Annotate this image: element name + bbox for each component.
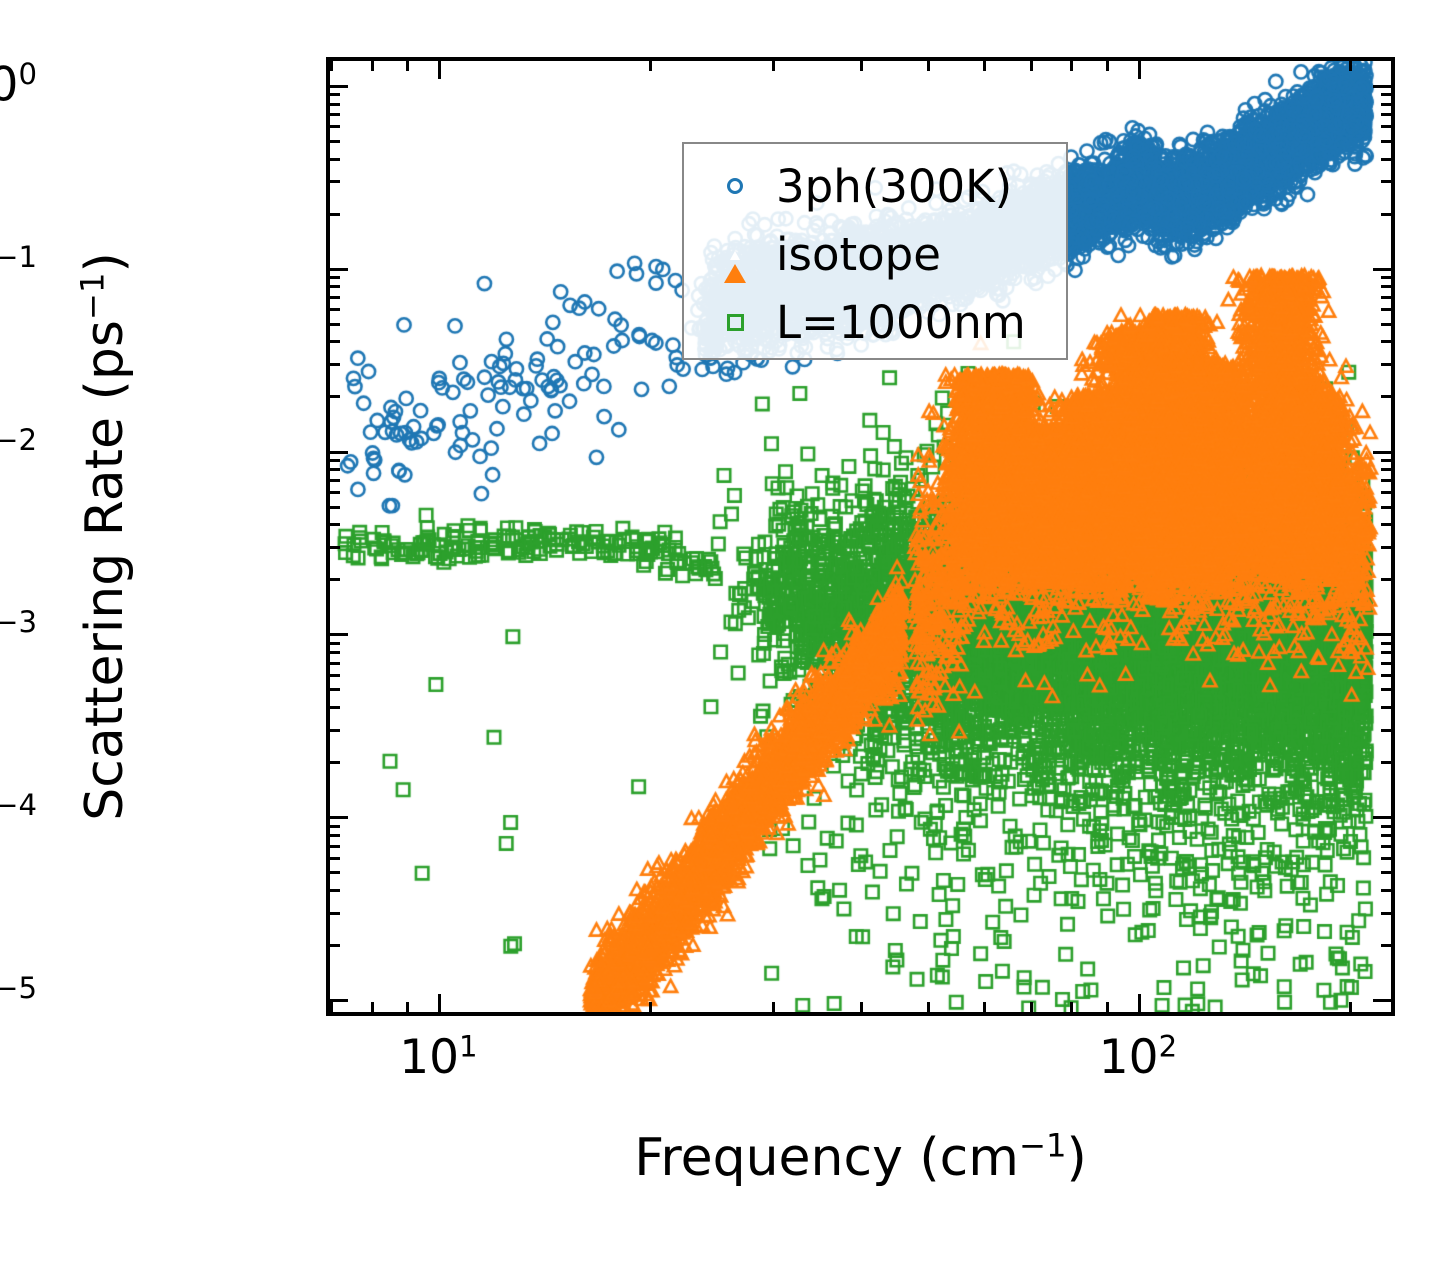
y-minor-tick-right — [1381, 506, 1391, 509]
y-minor-tick — [330, 93, 340, 96]
y-minor-tick-right — [1381, 468, 1391, 471]
y-minor-tick-right — [1381, 125, 1391, 128]
y-tick-label: 10−1 — [0, 240, 37, 295]
y-minor-tick-right — [1381, 642, 1391, 645]
y-minor-tick — [330, 308, 340, 311]
y-minor-tick-right — [1381, 213, 1391, 216]
x-minor-tick-top — [1106, 61, 1109, 71]
y-minor-tick-right — [1381, 578, 1391, 581]
y-major-tick-right — [1373, 451, 1391, 454]
x-minor-tick — [927, 1002, 930, 1012]
y-tick-label: 100 — [0, 57, 37, 112]
legend-item-length: L=1000nm — [684, 288, 1066, 356]
y-minor-tick — [330, 125, 340, 128]
x-major-tick — [1138, 994, 1141, 1012]
y-tick-label: 10−2 — [0, 423, 37, 478]
square-marker-icon — [712, 314, 758, 331]
x-minor-tick-top — [406, 61, 409, 71]
y-minor-tick — [330, 546, 340, 549]
y-minor-tick — [330, 180, 340, 183]
legend-item-3ph: 3ph(300K) — [684, 152, 1066, 220]
y-minor-tick-right — [1381, 395, 1391, 398]
x-major-tick-top — [1138, 61, 1141, 79]
y-minor-tick — [330, 845, 340, 848]
x-major-tick — [438, 994, 441, 1012]
x-minor-tick-top — [1070, 61, 1073, 71]
x-minor-tick-top — [330, 61, 333, 71]
y-minor-tick-right — [1381, 308, 1391, 311]
y-minor-tick — [330, 506, 340, 509]
y-major-tick — [330, 85, 348, 88]
y-major-tick-right — [1373, 633, 1391, 636]
y-minor-tick-right — [1381, 825, 1391, 828]
x-minor-tick-top — [1030, 61, 1033, 71]
y-minor-tick — [330, 213, 340, 216]
x-minor-tick-top — [649, 61, 652, 71]
y-minor-tick — [330, 834, 340, 837]
x-minor-tick — [406, 1002, 409, 1012]
y-major-tick — [330, 999, 348, 1002]
x-minor-tick — [1070, 1002, 1073, 1012]
x-tick-label: 101 — [399, 1030, 477, 1085]
y-minor-tick — [330, 825, 340, 828]
y-minor-tick — [330, 857, 340, 860]
y-minor-tick — [330, 479, 340, 482]
y-minor-tick — [330, 140, 340, 143]
y-minor-tick — [330, 296, 340, 299]
y-minor-tick-right — [1381, 834, 1391, 837]
y-minor-tick — [330, 674, 340, 677]
y-minor-tick-right — [1381, 857, 1391, 860]
x-minor-tick — [330, 1002, 333, 1012]
y-minor-tick-right — [1381, 871, 1391, 874]
y-minor-tick — [330, 323, 340, 326]
y-minor-tick-right — [1381, 845, 1391, 848]
x-minor-tick-top — [927, 61, 930, 71]
y-minor-tick-right — [1381, 729, 1391, 732]
y-major-tick — [330, 268, 348, 271]
y-minor-tick-right — [1381, 340, 1391, 343]
y-minor-tick — [330, 340, 340, 343]
y-tick-label: 10−5 — [0, 972, 37, 1027]
y-minor-tick-right — [1381, 944, 1391, 947]
y-minor-tick-right — [1381, 459, 1391, 462]
y-minor-tick-right — [1381, 180, 1391, 183]
y-minor-tick — [330, 651, 340, 654]
y-minor-tick — [330, 706, 340, 709]
y-minor-tick-right — [1381, 889, 1391, 892]
y-major-tick-right — [1373, 999, 1391, 1002]
y-minor-tick — [330, 363, 340, 366]
y-minor-tick — [330, 113, 340, 116]
x-minor-tick-top — [1349, 61, 1352, 71]
y-minor-tick — [330, 761, 340, 764]
y-minor-tick — [330, 871, 340, 874]
y-minor-tick-right — [1381, 912, 1391, 915]
y-minor-tick-right — [1381, 546, 1391, 549]
x-minor-tick — [1349, 1002, 1352, 1012]
y-minor-tick-right — [1381, 491, 1391, 494]
y-minor-tick-right — [1381, 276, 1391, 279]
plot-area: 3ph(300K) isotope L=1000nm — [326, 57, 1395, 1016]
legend: 3ph(300K) isotope L=1000nm — [682, 142, 1068, 360]
x-minor-tick — [371, 1002, 374, 1012]
y-minor-tick-right — [1381, 674, 1391, 677]
circle-marker-icon — [712, 178, 758, 194]
y-minor-tick — [330, 103, 340, 106]
y-minor-tick-right — [1381, 158, 1391, 161]
x-minor-tick — [1106, 1002, 1109, 1012]
y-minor-tick — [330, 944, 340, 947]
y-minor-tick — [330, 158, 340, 161]
legend-label-length: L=1000nm — [776, 296, 1026, 349]
y-minor-tick — [330, 578, 340, 581]
y-minor-tick-right — [1381, 761, 1391, 764]
y-minor-tick-right — [1381, 296, 1391, 299]
y-minor-tick-right — [1381, 93, 1391, 96]
y-tick-label: 10−3 — [0, 606, 37, 661]
y-minor-tick — [330, 276, 340, 279]
y-minor-tick-right — [1381, 285, 1391, 288]
y-minor-tick-right — [1381, 140, 1391, 143]
y-minor-tick-right — [1381, 651, 1391, 654]
x-minor-tick-top — [983, 61, 986, 71]
x-minor-tick-top — [371, 61, 374, 71]
y-major-tick-right — [1373, 85, 1391, 88]
y-major-tick — [330, 633, 348, 636]
y-minor-tick-right — [1381, 523, 1391, 526]
x-minor-tick — [649, 1002, 652, 1012]
x-minor-tick — [860, 1002, 863, 1012]
y-minor-tick — [330, 459, 340, 462]
legend-label-isotope: isotope — [776, 228, 941, 281]
y-minor-tick-right — [1381, 479, 1391, 482]
y-major-tick-right — [1373, 816, 1391, 819]
x-minor-tick-top — [772, 61, 775, 71]
x-major-tick-top — [438, 61, 441, 79]
y-minor-tick — [330, 688, 340, 691]
x-tick-label: 102 — [1099, 1030, 1177, 1085]
y-minor-tick — [330, 642, 340, 645]
y-minor-tick — [330, 889, 340, 892]
y-minor-tick-right — [1381, 323, 1391, 326]
x-minor-tick — [1030, 1002, 1033, 1012]
y-minor-tick — [330, 523, 340, 526]
y-minor-tick-right — [1381, 103, 1391, 106]
y-minor-tick-right — [1381, 363, 1391, 366]
y-minor-tick — [330, 395, 340, 398]
x-minor-tick — [772, 1002, 775, 1012]
y-minor-tick — [330, 468, 340, 471]
y-major-tick — [330, 816, 348, 819]
x-axis-label: Frequency (cm−1) — [326, 1128, 1395, 1188]
y-minor-tick-right — [1381, 113, 1391, 116]
triangle-marker-icon — [712, 245, 758, 264]
legend-label-3ph: 3ph(300K) — [776, 160, 1012, 213]
y-tick-label: 10−4 — [0, 789, 37, 844]
y-major-tick-right — [1373, 268, 1391, 271]
y-minor-tick-right — [1381, 706, 1391, 709]
y-minor-tick — [330, 285, 340, 288]
y-minor-tick — [330, 729, 340, 732]
y-minor-tick — [330, 491, 340, 494]
y-minor-tick — [330, 912, 340, 915]
legend-item-isotope: isotope — [684, 220, 1066, 288]
x-minor-tick — [983, 1002, 986, 1012]
y-minor-tick-right — [1381, 662, 1391, 665]
y-major-tick — [330, 451, 348, 454]
y-axis-label: Scattering Rate (ps−1) — [70, 57, 140, 1016]
y-minor-tick — [330, 662, 340, 665]
y-minor-tick-right — [1381, 688, 1391, 691]
figure-root: Scattering Rate (ps−1) Frequency (cm−1) … — [0, 0, 1455, 1265]
x-minor-tick-top — [860, 61, 863, 71]
